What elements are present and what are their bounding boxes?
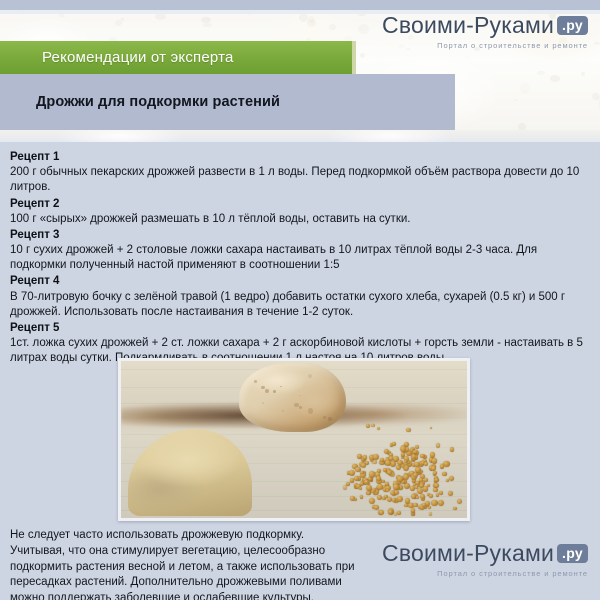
- recipe-heading: Рецепт 4: [10, 274, 592, 289]
- yeast-pellet-stray: [430, 427, 433, 430]
- texture-speck: [329, 24, 336, 31]
- logo-tagline: Портал о строительстве и ремонте: [437, 569, 588, 578]
- texture-speck: [360, 53, 365, 58]
- texture-speck: [308, 16, 315, 23]
- yeast-pellet: [413, 503, 417, 507]
- yeast-photo: [121, 361, 467, 518]
- yeast-pellet-stray: [453, 507, 456, 510]
- yeast-pellet: [394, 490, 399, 495]
- recipe-body: В 70-литровую бочку с зелёной травой (1 …: [10, 290, 592, 320]
- yeast-pellet: [400, 446, 406, 452]
- yeast-pellet: [434, 483, 439, 488]
- texture-speck: [581, 72, 585, 76]
- yeast-pellet: [397, 496, 403, 502]
- yeast-pellet: [404, 460, 407, 463]
- yeast-pellet: [432, 458, 438, 464]
- yeast-pellet: [392, 498, 396, 502]
- yeast-pellet: [397, 476, 402, 481]
- yeast-pellet: [438, 500, 444, 506]
- logo-domain-badge: .ру: [557, 16, 588, 35]
- yeast-pellet: [413, 473, 417, 477]
- texture-speck: [155, 13, 166, 20]
- yeast-pellet-stray: [450, 447, 455, 452]
- yeast-crumb: [308, 374, 312, 378]
- texture-speck: [201, 17, 211, 23]
- yeast-pellet: [359, 487, 363, 491]
- advisory-note: Не следует часто использовать дрожжевую …: [10, 528, 410, 600]
- yeast-pellet: [439, 491, 443, 495]
- yeast-pellet-stray: [436, 443, 440, 447]
- texture-speck: [520, 82, 531, 94]
- yeast-pellet: [414, 450, 417, 453]
- texture-speck: [115, 20, 122, 26]
- yeast-pellet-stray: [394, 512, 398, 516]
- yeast-pellet: [411, 508, 416, 513]
- yeast-pellet-stray: [457, 499, 462, 504]
- advisory-line: подкормить растения весной и летом, а та…: [10, 560, 410, 576]
- yeast-pellet: [448, 491, 453, 496]
- yeast-pellet: [363, 455, 368, 460]
- yeast-pellet-stray: [415, 445, 419, 449]
- yeast-pellet-stray: [377, 427, 380, 430]
- recipe-heading: Рецепт 2: [10, 197, 592, 212]
- yeast-crumb: [294, 403, 298, 407]
- yeast-crumb: [280, 386, 282, 388]
- yeast-crumb: [308, 408, 313, 413]
- yeast-pellet: [430, 452, 436, 458]
- yeast-pellet: [392, 442, 396, 446]
- yeast-pellet-stray: [371, 424, 374, 427]
- texture-speck: [358, 24, 369, 35]
- yeast-pellet: [397, 511, 401, 515]
- yeast-pellet: [389, 456, 393, 460]
- yeast-pellet: [424, 478, 428, 482]
- logo-tagline: Портал о строительстве и ремонте: [437, 41, 588, 50]
- page-title: Дрожжи для подкормки растений: [36, 94, 280, 110]
- texture-speck: [597, 95, 600, 100]
- advisory-line: Не следует часто использовать дрожжевую …: [10, 528, 410, 544]
- yeast-pellet: [377, 495, 382, 500]
- yeast-pellet: [369, 471, 375, 477]
- yeast-crumb: [328, 417, 332, 421]
- yeast-crumb: [282, 410, 284, 412]
- texture-speck: [550, 75, 560, 82]
- yeast-pellet: [374, 505, 379, 510]
- yeast-pellet: [416, 496, 420, 500]
- texture-speck: [594, 42, 600, 45]
- logo-wordmark-row: Своими-Руками .ру: [382, 542, 588, 565]
- advisory-line: Учитывая, что она стимулирует вегетацию,…: [10, 544, 410, 560]
- yeast-crumb: [262, 402, 264, 404]
- advisory-line: пересадках растений. Дополнительно дрожж…: [10, 575, 410, 591]
- page-root: Своими-Руками .ру Портал о строительстве…: [0, 0, 600, 600]
- yeast-crumb: [265, 389, 269, 393]
- yeast-pellet: [417, 488, 423, 494]
- yeast-crumb: [299, 395, 301, 397]
- yeast-pellet: [433, 488, 438, 493]
- recipe-body: 100 г «сырых» дрожжей размешать в 10 л т…: [10, 212, 592, 227]
- advisory-line: можно поддержать заболевшие и ослабевшие…: [10, 591, 410, 600]
- yeast-pellet: [349, 470, 355, 476]
- yeast-pellet: [354, 476, 359, 481]
- yeast-pellet: [424, 462, 428, 466]
- yeast-pellet: [379, 510, 384, 515]
- yeast-pellet: [386, 489, 389, 492]
- texture-speck: [537, 71, 544, 75]
- yeast-pellet: [357, 454, 362, 459]
- yeast-crumb: [299, 406, 302, 409]
- yeast-crumb: [261, 386, 264, 389]
- yeast-pellet: [449, 476, 454, 481]
- yeast-pellet: [404, 504, 407, 507]
- yeast-pellet: [403, 474, 409, 480]
- yeast-pellet: [393, 484, 399, 490]
- yeast-pellet: [442, 472, 447, 477]
- yeast-pellet: [360, 482, 364, 486]
- expert-bar-edge: [352, 41, 356, 74]
- logo-wordmark: Своими-Руками: [382, 542, 554, 565]
- logo-wordmark-row: Своими-Руками .ру: [382, 14, 588, 37]
- yeast-pellet: [420, 454, 424, 458]
- texture-speck: [465, 55, 469, 58]
- yeast-pellet: [429, 494, 433, 498]
- yeast-pellet-stray: [366, 424, 370, 428]
- yeast-pellet: [410, 486, 415, 491]
- recipe-body: 10 г сухих дрожжей + 2 столовые ложки са…: [10, 243, 592, 273]
- yeast-pellet-stray: [412, 454, 416, 458]
- yeast-pellet: [380, 458, 384, 462]
- yeast-pellet: [390, 461, 396, 467]
- yeast-pellet-stray: [429, 512, 433, 516]
- yeast-pellet-stray: [372, 460, 376, 464]
- yeast-pellet: [428, 506, 431, 509]
- yeast-pellet-stray: [406, 428, 410, 432]
- yeast-pellet: [355, 467, 360, 472]
- main-content: Рецепт 1 200 г обычных пекарских дрожжей…: [0, 142, 600, 600]
- expert-recommendation-bar: Рекомендации от эксперта: [0, 41, 355, 74]
- yeast-crumb: [254, 380, 257, 383]
- band-separator: [0, 130, 600, 142]
- yeast-pellet: [369, 498, 375, 504]
- yeast-pellet-stray: [387, 470, 392, 475]
- yeast-pellet: [423, 486, 428, 491]
- yeast-pellet: [385, 482, 388, 485]
- site-logo-header[interactable]: Своими-Руками .ру Портал о строительстве…: [382, 14, 588, 50]
- yeast-pellet: [419, 478, 423, 482]
- top-blue-strip: [0, 0, 600, 10]
- yeast-pellet: [440, 464, 444, 468]
- yeast-pellet-stray: [367, 492, 370, 495]
- yeast-pellet: [420, 494, 425, 499]
- fresh-yeast-block: [239, 363, 346, 432]
- yeast-pellet: [435, 478, 439, 482]
- yeast-pellet: [433, 471, 437, 475]
- yeast-pellet: [360, 495, 363, 498]
- yeast-crumb: [323, 416, 326, 419]
- recipe-list: Рецепт 1 200 г обычных пекарских дрожжей…: [10, 150, 592, 367]
- yeast-pellet: [431, 500, 437, 506]
- yeast-pellet: [404, 483, 410, 489]
- page-title-band: Дрожжи для подкормки растений: [0, 74, 455, 130]
- recipe-body: 200 г обычных пекарских дрожжей развести…: [10, 165, 592, 195]
- yeast-pellet: [414, 462, 419, 467]
- recipe-heading: Рецепт 3: [10, 228, 592, 243]
- expert-bar-label: Рекомендации от эксперта: [42, 49, 234, 66]
- yeast-pellet: [376, 476, 381, 481]
- yeast-pellet-stray: [390, 491, 394, 495]
- yeast-pellet: [384, 449, 389, 454]
- texture-speck: [121, 18, 124, 21]
- logo-wordmark: Своими-Руками: [382, 14, 554, 37]
- recipe-heading: Рецепт 1: [10, 150, 592, 165]
- dry-yeast-granule-pile: [128, 429, 253, 517]
- texture-speck: [62, 16, 65, 18]
- site-logo-watermark[interactable]: Своими-Руками .ру Портал о строительстве…: [382, 542, 588, 578]
- yeast-pellet-pile: [339, 424, 457, 515]
- texture-speck: [203, 23, 212, 28]
- yeast-pellet: [443, 461, 449, 467]
- texture-speck: [514, 99, 517, 101]
- yeast-pellet-stray: [343, 485, 347, 489]
- recipe-heading: Рецепт 5: [10, 321, 592, 336]
- yeast-pellet: [361, 463, 366, 468]
- yeast-photo-frame: [118, 358, 470, 521]
- yeast-pellet: [436, 493, 439, 496]
- yeast-pellet: [350, 478, 354, 482]
- yeast-crumb: [273, 390, 276, 393]
- logo-domain-badge: .ру: [557, 544, 588, 563]
